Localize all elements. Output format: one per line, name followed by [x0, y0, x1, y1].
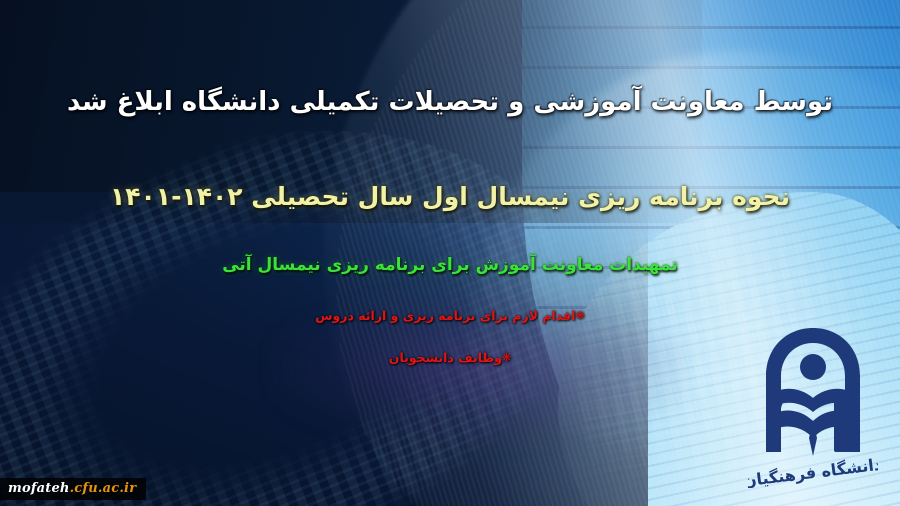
watermark-suffix: .cfu.ac.ir	[70, 481, 137, 496]
watermark-prefix: mofateh	[8, 481, 70, 496]
section-subtitle: تمهیدات معاونت آموزش برای برنامه ریزی نی…	[0, 255, 900, 276]
subject-title: نحوه برنامه ریزی نیمسال اول سال تحصیلی ۱…	[0, 181, 900, 212]
bullet-item-2-label: وظایف دانشجویان	[389, 350, 502, 365]
asterisk-icon: ❋	[502, 351, 511, 364]
farhangian-university-logo: دانشگاه فرهنگیان	[748, 320, 878, 488]
headline-text: توسط معاونت آموزشی و تحصیلات تکمیلی دانش…	[0, 86, 900, 119]
asterisk-icon: ❋	[576, 309, 585, 322]
site-url-watermark: mofateh.cfu.ac.ir	[0, 478, 146, 500]
bullet-item-1-label: اقدام لازم برای برنامه ریزی و ارائه دروس	[315, 308, 575, 323]
logo-caption-text: دانشگاه فرهنگیان	[748, 455, 878, 488]
logo-caption: دانشگاه فرهنگیان	[748, 455, 878, 488]
announcement-banner: توسط معاونت آموزشی و تحصیلات تکمیلی دانش…	[0, 0, 900, 506]
